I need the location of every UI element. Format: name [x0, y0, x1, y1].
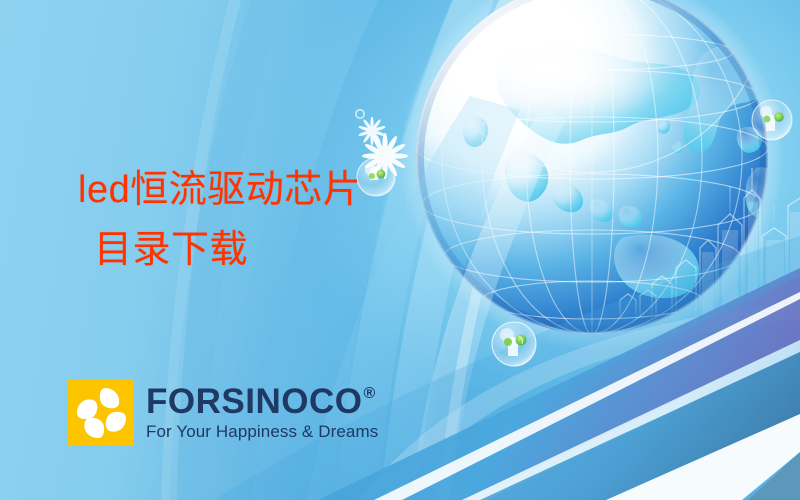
- headline-block: led恒流驱动芯片 目录下载: [78, 160, 498, 280]
- logo-mark: [68, 380, 134, 446]
- logo-text-block: FORSINOCO ® For Your Happiness & Dreams: [146, 385, 378, 441]
- registered-trademark-icon: ®: [363, 386, 375, 402]
- bubble-icon: [492, 322, 536, 366]
- logo-wordmark: FORSINOCO: [146, 385, 362, 419]
- logo-wordmark-row: FORSINOCO ®: [146, 385, 378, 419]
- bubble-icon: [752, 100, 792, 140]
- logo-tagline: For Your Happiness & Dreams: [146, 422, 378, 441]
- four-petal-pinwheel-icon: [68, 380, 134, 446]
- headline-line-2: 目录下载: [78, 220, 498, 280]
- company-logo: FORSINOCO ® For Your Happiness & Dreams: [68, 380, 378, 446]
- product-banner: led恒流驱动芯片 目录下载 FORSINOCO ®: [0, 0, 800, 500]
- headline-line-1: led恒流驱动芯片: [78, 160, 498, 220]
